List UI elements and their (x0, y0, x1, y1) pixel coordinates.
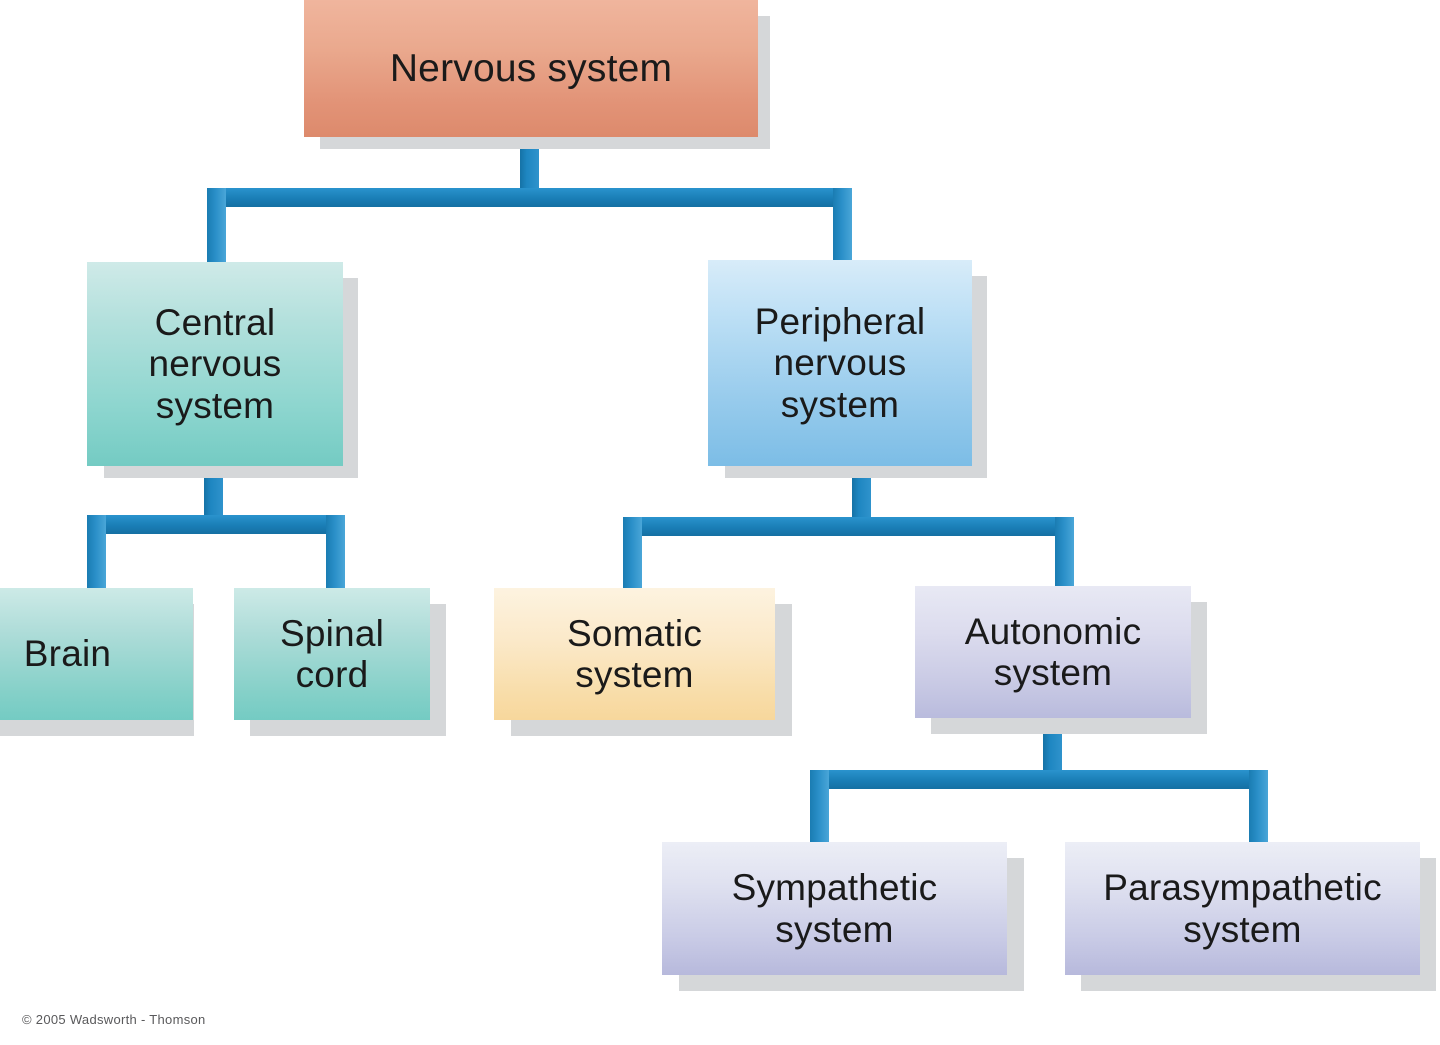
node-somatic-system[interactable]: Somatic system (494, 588, 775, 720)
node-label-sympathetic-system: Sympathetic system (662, 867, 1007, 950)
node-label-peripheral-nervous-system: Peripheral nervous system (708, 301, 972, 425)
node-nervous-system[interactable]: Nervous system (304, 0, 758, 137)
connector-cns-left-leg (87, 515, 106, 593)
diagram-canvas: Nervous system Central nervous system Pe… (0, 0, 1440, 1045)
node-label-somatic-system: Somatic system (494, 613, 775, 696)
node-autonomic-system[interactable]: Autonomic system (915, 586, 1191, 718)
connector-root-right-leg (833, 188, 852, 266)
connector-pns-left-leg (623, 517, 642, 593)
connector-autonomic-left-leg (810, 770, 829, 848)
connector-pns-bar (623, 517, 1074, 536)
node-label-autonomic-system: Autonomic system (915, 611, 1191, 694)
connector-autonomic-right-leg (1249, 770, 1268, 848)
connector-root-bar (207, 188, 852, 207)
connector-cns-bar (87, 515, 345, 534)
node-label-parasympathetic-system: Parasympathetic system (1065, 867, 1420, 950)
connector-pns-right-leg (1055, 517, 1074, 593)
node-parasympathetic-system[interactable]: Parasympathetic system (1065, 842, 1420, 975)
node-spinal-cord[interactable]: Spinal cord (234, 588, 430, 720)
node-peripheral-nervous-system[interactable]: Peripheral nervous system (708, 260, 972, 466)
connector-autonomic-bar (810, 770, 1268, 789)
node-label-spinal-cord: Spinal cord (234, 613, 430, 696)
node-sympathetic-system[interactable]: Sympathetic system (662, 842, 1007, 975)
node-label-central-nervous-system: Central nervous system (87, 302, 343, 426)
connector-root-left-leg (207, 188, 226, 266)
node-label-brain: Brain (0, 633, 193, 674)
connector-cns-right-leg (326, 515, 345, 593)
node-label-nervous-system: Nervous system (304, 47, 758, 91)
copyright-notice: © 2005 Wadsworth - Thomson (22, 1012, 206, 1027)
node-brain[interactable]: Brain (0, 588, 193, 720)
node-central-nervous-system[interactable]: Central nervous system (87, 262, 343, 466)
